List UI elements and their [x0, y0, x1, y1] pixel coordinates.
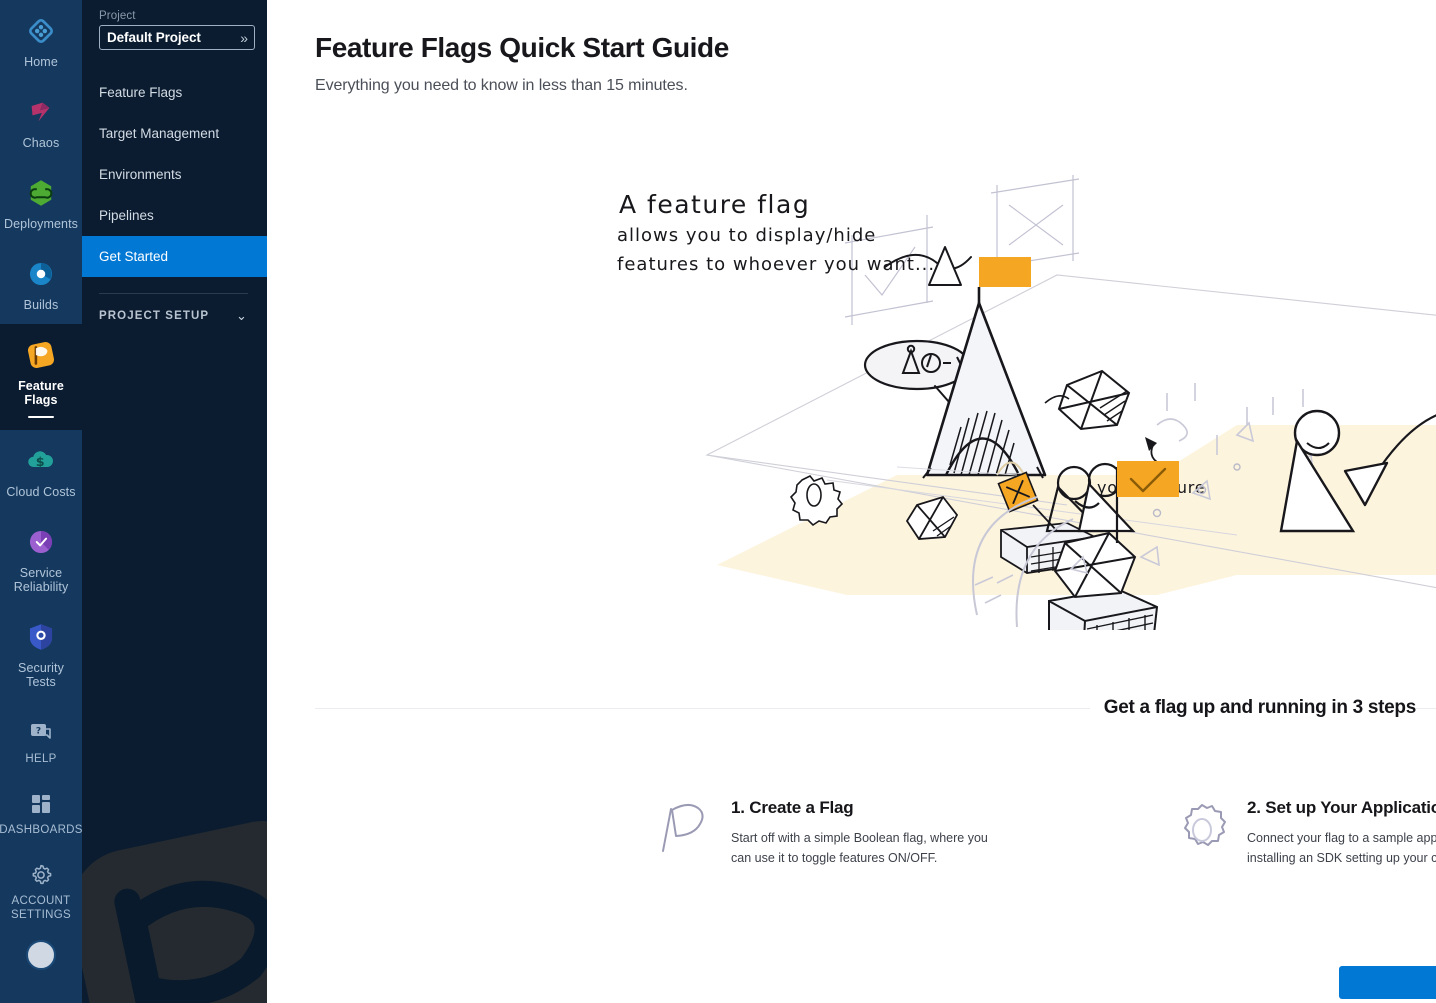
rail-item-deployments[interactable]: Deployments: [0, 162, 82, 243]
main-content: Feature Flags Quick Start Guide Everythi…: [267, 0, 1436, 1003]
cloud-costs-icon: $: [24, 444, 58, 478]
sidebar-item-pipelines[interactable]: Pipelines: [82, 195, 267, 236]
rail-item-chaos[interactable]: Chaos: [0, 81, 82, 162]
rail-item-service-reliability[interactable]: Service Reliability: [0, 511, 82, 606]
rail-item-home[interactable]: Home: [0, 0, 82, 81]
rail-item-account-settings[interactable]: ACCOUNT SETTINGS: [0, 849, 82, 934]
step-title: 1. Create a Flag: [731, 798, 1001, 818]
sidebar-item-target-management[interactable]: Target Management: [82, 113, 267, 154]
get-started-button[interactable]: Get Started: [1339, 966, 1436, 999]
rail-item-label: Builds: [24, 298, 59, 312]
steps-divider-row: Get a flag up and running in 3 steps: [315, 697, 1436, 719]
rail-item-label: ACCOUNT SETTINGS: [2, 894, 80, 922]
gear-icon: [29, 863, 53, 887]
steps-list: 1. Create a Flag Start off with a simple…: [657, 795, 1436, 868]
feature-flags-watermark-icon: [82, 813, 267, 1003]
sidebar-item-label: Environments: [99, 167, 182, 182]
section-label: PROJECT SETUP: [99, 310, 209, 322]
help-icon: ?: [29, 721, 53, 745]
app-root: Home Chaos Deployments Builds: [0, 0, 1436, 1003]
rail-item-dashboards[interactable]: DASHBOARDS: [0, 778, 82, 849]
gear-icon: [1173, 801, 1231, 859]
rail-item-builds[interactable]: Builds: [0, 243, 82, 324]
chevron-double-right-icon: »: [240, 31, 248, 45]
deployments-icon: [24, 176, 58, 210]
rail-item-label: Feature Flags: [2, 379, 80, 407]
section-project-setup[interactable]: PROJECT SETUP ⌄: [82, 308, 267, 324]
sidebar-item-label: Get Started: [99, 249, 168, 264]
steps-heading: Get a flag up and running in 3 steps: [1090, 697, 1416, 719]
sidebar-item-feature-flags[interactable]: Feature Flags: [82, 72, 267, 113]
divider: [99, 293, 248, 294]
chevron-down-icon: ⌄: [236, 308, 248, 324]
service-reliability-icon: [24, 525, 58, 559]
module-rail: Home Chaos Deployments Builds: [0, 0, 82, 1003]
sidebar-item-label: Feature Flags: [99, 85, 182, 100]
rail-item-help[interactable]: ? HELP: [0, 707, 82, 778]
step-set-up-your-application: 2. Set up Your Application Connect your …: [1173, 795, 1436, 868]
sidebar-item-environments[interactable]: Environments: [82, 154, 267, 195]
builds-icon: [24, 257, 58, 291]
svg-text:?: ?: [36, 727, 41, 737]
rail-item-label: Service Reliability: [2, 566, 80, 594]
home-diamond-icon: [24, 14, 58, 48]
divider: [315, 708, 1090, 709]
sidebar-item-label: Pipelines: [99, 208, 154, 223]
step-description: Start off with a simple Boolean flag, wh…: [731, 828, 1001, 868]
dashboards-icon: [29, 792, 53, 816]
step-title: 2. Set up Your Application: [1247, 798, 1436, 818]
svg-text:allows you to display/hide: allows you to display/hide: [617, 225, 876, 246]
project-label: Project: [82, 10, 267, 25]
step-description: Connect your flag to a sample applicatio…: [1247, 828, 1436, 868]
chaos-icon: [24, 95, 58, 129]
avatar[interactable]: [26, 940, 56, 970]
active-indicator: [28, 416, 54, 418]
project-name: Default Project: [107, 30, 201, 45]
project-selector[interactable]: Default Project »: [99, 25, 255, 50]
feature-flag-sketch-icon: A feature flag allows you to display/hid…: [597, 175, 1436, 630]
security-tests-icon: [24, 620, 58, 654]
rail-item-label: DASHBOARDS: [0, 823, 82, 837]
feature-flags-icon: [24, 338, 58, 372]
sidebar-item-label: Target Management: [99, 126, 219, 141]
divider-right: [1416, 708, 1436, 709]
rail-item-label: Cloud Costs: [6, 485, 75, 499]
rail-item-label: Security Tests: [2, 661, 80, 689]
sidebar-item-get-started[interactable]: Get Started: [82, 236, 267, 277]
project-panel: Project Default Project » Feature Flags …: [82, 0, 267, 1003]
rail-item-label: Home: [24, 55, 58, 69]
hero-illustration: A feature flag allows you to display/hid…: [597, 175, 1436, 630]
svg-text:$: $: [36, 455, 45, 470]
project-nav: Feature Flags Target Management Environm…: [82, 72, 267, 277]
rail-item-label: Deployments: [4, 217, 78, 231]
page-header: Feature Flags Quick Start Guide Everythi…: [267, 0, 1436, 95]
rail-item-security-tests[interactable]: Security Tests: [0, 606, 82, 701]
flag-icon: [657, 801, 715, 859]
rail-item-label: HELP: [25, 752, 56, 766]
page-title: Feature Flags Quick Start Guide: [315, 32, 1436, 64]
svg-text:A feature flag: A feature flag: [619, 190, 810, 219]
step-create-a-flag: 1. Create a Flag Start off with a simple…: [657, 795, 1110, 868]
rail-item-cloud-costs[interactable]: $ Cloud Costs: [0, 430, 82, 511]
rail-item-feature-flags[interactable]: Feature Flags: [0, 324, 82, 430]
page-subtitle: Everything you need to know in less than…: [315, 77, 1436, 95]
rail-item-label: Chaos: [23, 136, 60, 150]
